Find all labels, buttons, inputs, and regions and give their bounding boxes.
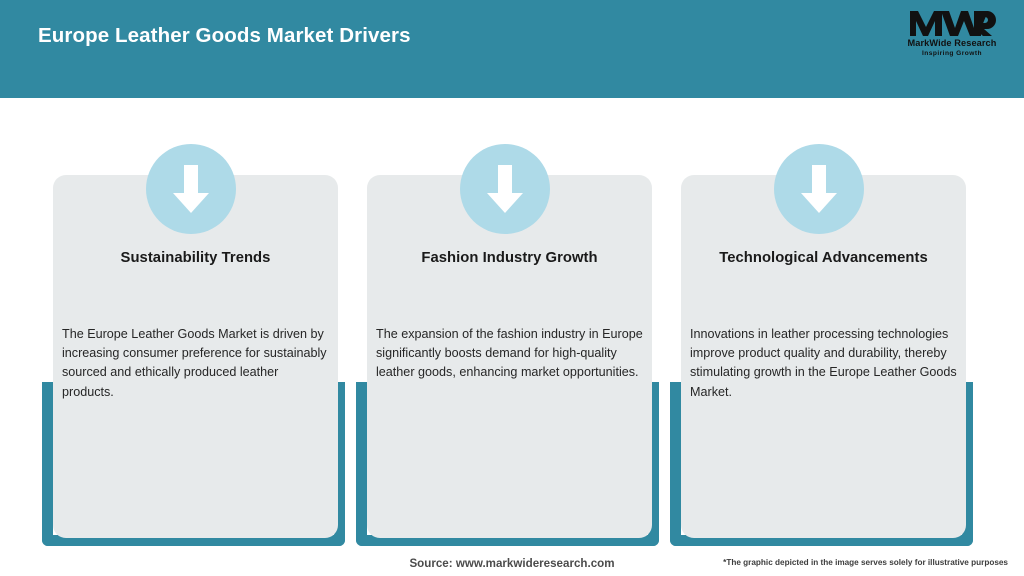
brand-logo: MarkWide Research Inspiring Growth	[896, 8, 1008, 66]
driver-cards-row: Sustainability Trends The Europe Leather…	[0, 98, 1024, 576]
driver-card[interactable]: Sustainability Trends The Europe Leather…	[42, 98, 357, 576]
card-body-text: The Europe Leather Goods Market is drive…	[62, 325, 330, 402]
disclaimer-note: *The graphic depicted in the image serve…	[723, 558, 1008, 567]
header-bar	[0, 0, 1024, 98]
driver-card[interactable]: Fashion Industry Growth The expansion of…	[356, 98, 671, 576]
card-body-text: The expansion of the fashion industry in…	[376, 325, 644, 383]
logo-name: MarkWide Research	[908, 38, 997, 49]
card-heading: Sustainability Trends	[53, 250, 338, 266]
arrow-down-icon	[146, 144, 236, 234]
card-body-text: Innovations in leather processing techno…	[690, 325, 958, 402]
card-heading: Technological Advancements	[681, 250, 966, 266]
card-heading: Fashion Industry Growth	[367, 250, 652, 266]
arrow-down-icon	[460, 144, 550, 234]
logo-tagline: Inspiring Growth	[922, 49, 982, 58]
arrow-down-icon	[774, 144, 864, 234]
logo-mark-icon	[908, 8, 996, 38]
page-title: Europe Leather Goods Market Drivers	[38, 24, 411, 48]
driver-card[interactable]: Technological Advancements Innovations i…	[670, 98, 985, 576]
